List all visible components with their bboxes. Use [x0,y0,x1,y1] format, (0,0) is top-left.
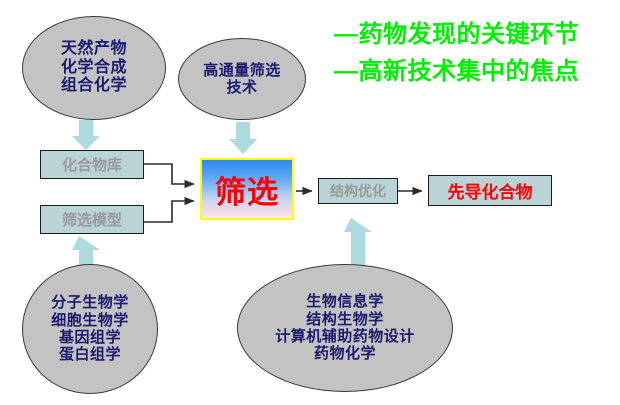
ellipse-natural-products-source[interactable]: 天然产物 化学合成 组合化学 [22,16,166,120]
block-arrow-informatics-to-optimization [344,218,372,266]
ellipse-hts-line-1: 高通量筛选 [203,62,281,79]
box-structure-optimization[interactable]: 结构优化 [318,178,398,204]
ellipse-biology-line-1: 分子生物学 [51,294,129,311]
ellipse-informatics-line-3: 计算机辅助药物设计 [275,328,415,345]
box-screening-model[interactable]: 筛选模型 [40,205,144,234]
headline-line-2: —高新技术集中的焦点 [334,53,579,90]
ellipse-informatics-disciplines[interactable]: 生物信息学 结构生物学 计算机辅助药物设计 药物化学 [237,264,453,392]
box-compound-library[interactable]: 化合物库 [40,150,144,179]
ellipse-informatics-line-1: 生物信息学 [306,293,384,310]
ellipse-natural-line-1: 天然产物 [61,40,127,59]
ellipse-biology-line-4: 蛋白组学 [59,346,121,363]
ellipse-biology-disciplines[interactable]: 分子生物学 细胞生物学 基因组学 蛋白组学 [22,264,158,394]
block-arrow-biology-to-model [72,236,100,266]
ellipse-biology-line-2: 细胞生物学 [51,312,129,329]
ellipse-hts-technology[interactable]: 高通量筛选 技术 [178,38,306,120]
ellipse-informatics-line-2: 结构生物学 [306,311,384,328]
ellipse-hts-line-2: 技术 [226,79,257,96]
block-arrow-hts-to-screening [229,122,257,154]
block-arrow-natural-to-library [72,120,100,150]
diagram-canvas: —药物发现的关键环节 —高新技术集中的焦点 天然产物 化学合成 组合化学 高通量… [0,0,620,405]
ellipse-biology-line-3: 基因组学 [59,329,121,346]
box-lead-compound[interactable]: 先导化合物 [428,175,552,206]
ellipse-natural-line-3: 组合化学 [61,77,127,96]
ellipse-informatics-line-4: 药物化学 [314,345,376,362]
connector-library-to-screening [144,164,194,184]
ellipse-natural-line-2: 化学合成 [61,59,127,78]
headline-block: —药物发现的关键环节 —高新技术集中的焦点 [334,16,579,90]
headline-line-1: —药物发现的关键环节 [334,16,579,53]
box-screening[interactable]: 筛选 [200,158,294,220]
connector-model-to-screening [144,201,194,222]
